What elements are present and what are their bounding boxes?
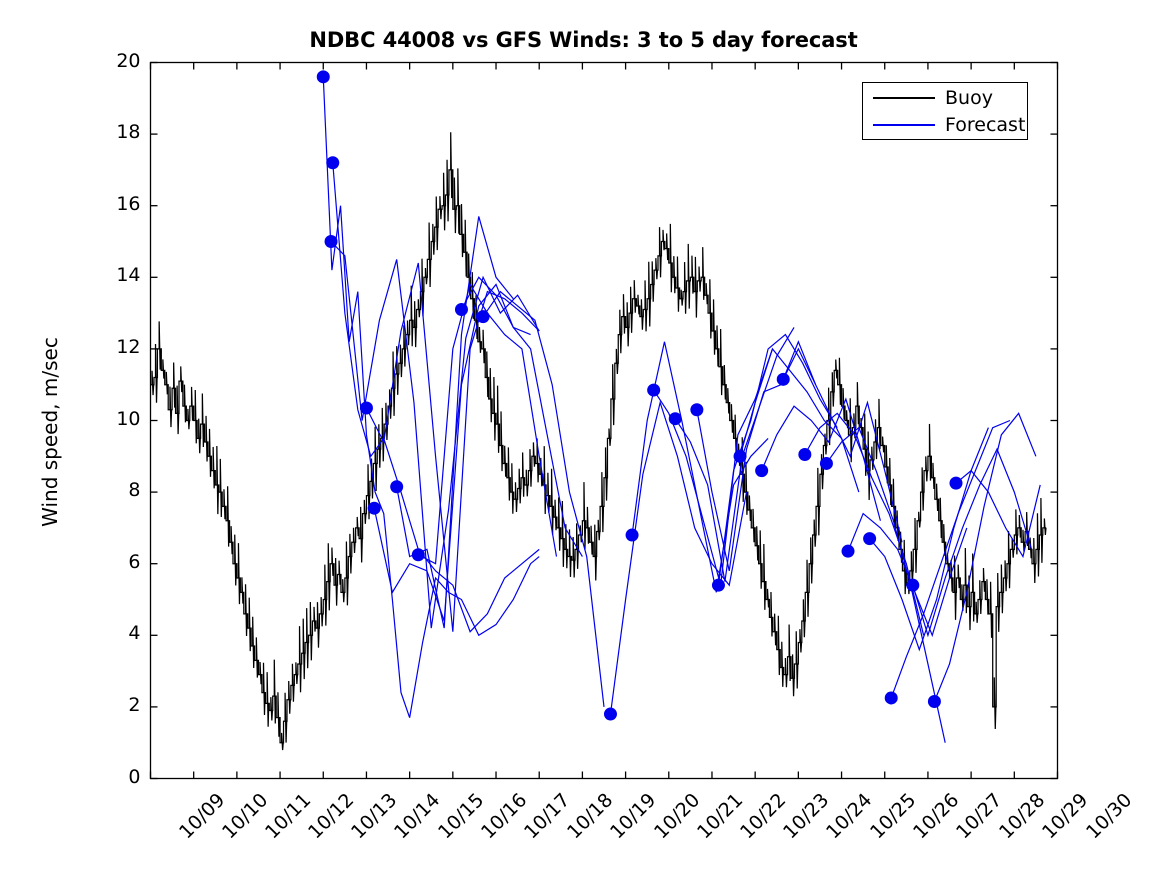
- series-forecast-line: [374, 284, 530, 621]
- forecast-start-marker: [928, 695, 941, 708]
- forecast-start-marker: [412, 548, 425, 561]
- forecast-start-marker: [647, 384, 660, 397]
- series-forecast-line: [654, 349, 773, 585]
- chart-legend: Buoy Forecast: [862, 82, 1028, 140]
- chart-figure: NDBC 44008 vs GFS Winds: 3 to 5 day fore…: [0, 0, 1167, 875]
- forecast-start-marker: [360, 401, 373, 414]
- legend-entry-buoy: Buoy: [863, 84, 1027, 112]
- forecast-start-marker: [712, 579, 725, 592]
- forecast-start-marker: [798, 448, 811, 461]
- series-layer: [151, 77, 1047, 750]
- forecast-start-marker: [604, 708, 617, 721]
- forecast-start-marker: [368, 502, 381, 515]
- legend-label-buoy: Buoy: [945, 86, 993, 110]
- forecast-start-marker: [863, 532, 876, 545]
- forecast-start-marker: [455, 303, 468, 316]
- forecast-start-marker: [690, 403, 703, 416]
- forecast-start-marker: [317, 70, 330, 83]
- forecast-start-marker: [734, 450, 747, 463]
- forecast-start-marker: [820, 457, 833, 470]
- forecast-start-marker: [950, 477, 963, 490]
- legend-label-forecast: Forecast: [945, 113, 1025, 137]
- plot-border: [151, 63, 1058, 779]
- legend-entry-forecast: Forecast: [863, 111, 1027, 139]
- forecast-start-marker: [390, 480, 403, 493]
- forecast-start-marker: [326, 156, 339, 169]
- series-forecast-line: [934, 413, 1035, 701]
- forecast-start-marker: [626, 529, 639, 542]
- forecast-start-marker: [842, 545, 855, 558]
- series-forecast-line: [366, 263, 539, 632]
- axes-frame: [151, 63, 1058, 779]
- forecast-start-marker: [325, 235, 338, 248]
- forecast-start-marker: [669, 412, 682, 425]
- forecast-start-marker: [885, 691, 898, 704]
- legend-swatch-forecast: [873, 124, 935, 126]
- forecast-start-marker: [755, 464, 768, 477]
- forecast-start-marker: [477, 310, 490, 323]
- forecast-start-marker: [906, 579, 919, 592]
- forecast-start-marker: [777, 373, 790, 386]
- legend-swatch-buoy: [873, 97, 935, 99]
- series-forecast-line: [483, 292, 604, 707]
